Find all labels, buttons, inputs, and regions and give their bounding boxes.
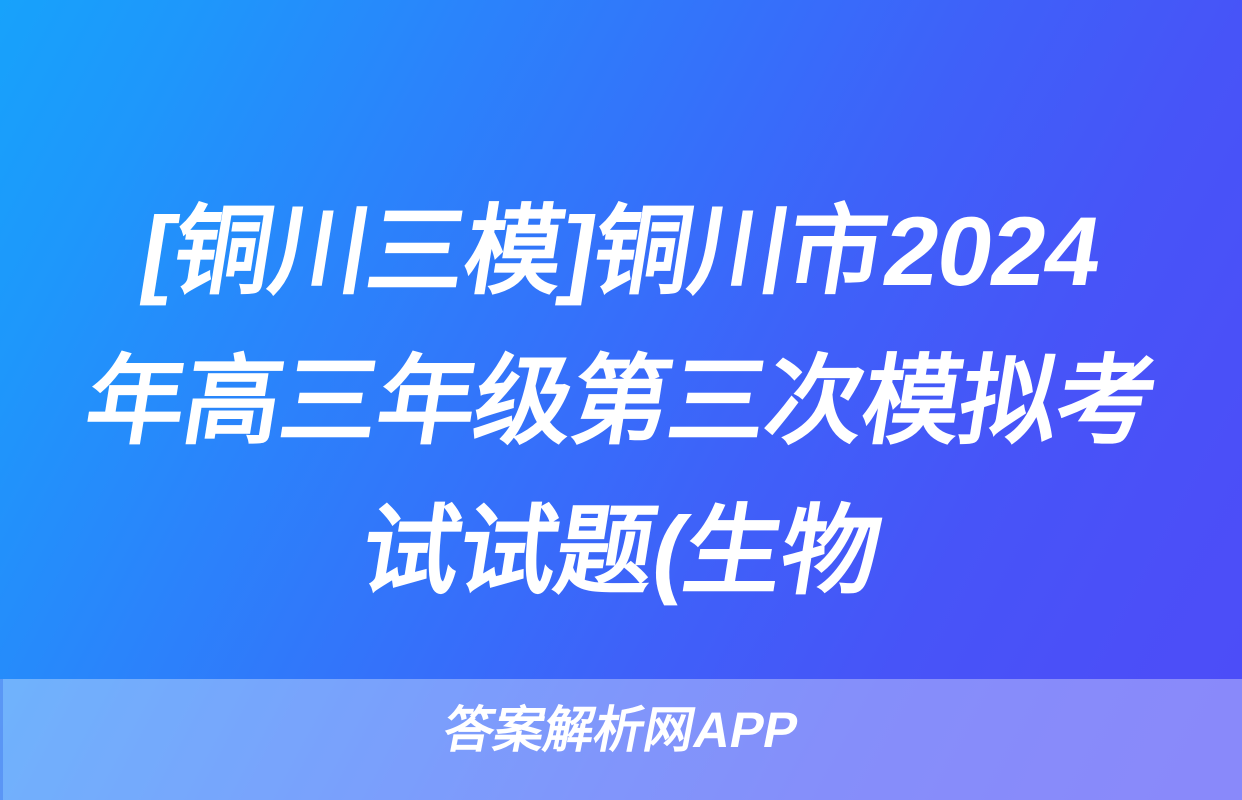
title-line-1: [铜川三模]铜川市2024 xyxy=(12,176,1230,326)
page-title: [铜川三模]铜川市2024 年高三年级第三次模拟考 试试题(生物 xyxy=(0,176,1242,626)
title-line-2: 年高三年级第三次模拟考 xyxy=(12,326,1230,476)
title-line-3: 试试题(生物 xyxy=(12,476,1230,626)
poster-canvas: [铜川三模]铜川市2024 年高三年级第三次模拟考 试试题(生物 答案解析网AP… xyxy=(0,0,1242,800)
watermark-brand-label: 答案解析网APP xyxy=(0,700,1242,760)
